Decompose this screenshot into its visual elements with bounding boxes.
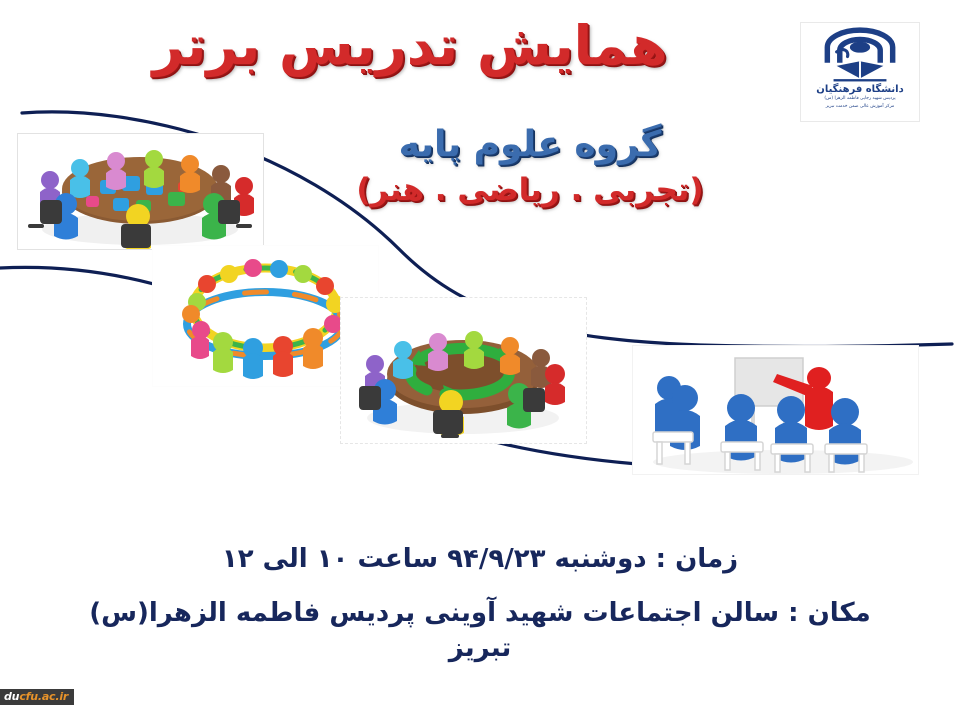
book-dome-emblem-icon bbox=[821, 27, 899, 83]
event-place: مکان : سالن اجتماعات شهید آوینی پردیس فا… bbox=[60, 596, 900, 666]
image-round-table-arrows bbox=[340, 297, 587, 444]
meeting-table-puzzle-illustration bbox=[18, 134, 263, 249]
subtitle-group: گروه علوم پایه bbox=[330, 124, 730, 165]
university-logo: دانشگاه فرهنگیان پردیس شهید رجایی فاطمه … bbox=[800, 22, 920, 122]
watermark-domain: cfu.ac.ir bbox=[19, 690, 68, 703]
event-time: زمان : دوشنبه ۹۴/۹/۲۳ ساعت ۱۰ الی ۱۲ bbox=[60, 544, 900, 574]
logo-subline-1: پردیس شهید رجایی فاطمه الزهرا (س) bbox=[824, 96, 895, 103]
round-table-arrows-illustration bbox=[341, 298, 586, 443]
logo-subline-2: مرکز آموزش عالی ضمن خدمت تبریز bbox=[826, 104, 894, 111]
logo-university-name: دانشگاه فرهنگیان bbox=[816, 84, 903, 95]
poster-canvas: همایش تدریس برتر دانشگاه فرهنگیان پردیس … bbox=[0, 0, 960, 720]
image-classroom-teaching bbox=[632, 345, 919, 475]
image-meeting-table-puzzle bbox=[17, 133, 264, 250]
classroom-teaching-illustration bbox=[633, 346, 918, 474]
site-watermark: ducfu.ac.ir bbox=[0, 689, 74, 705]
watermark-prefix: du bbox=[4, 690, 19, 703]
page-title: همایش تدریس برتر bbox=[150, 14, 670, 77]
subtitle-fields: (تجربی . ریاضی . هنر) bbox=[330, 172, 730, 208]
